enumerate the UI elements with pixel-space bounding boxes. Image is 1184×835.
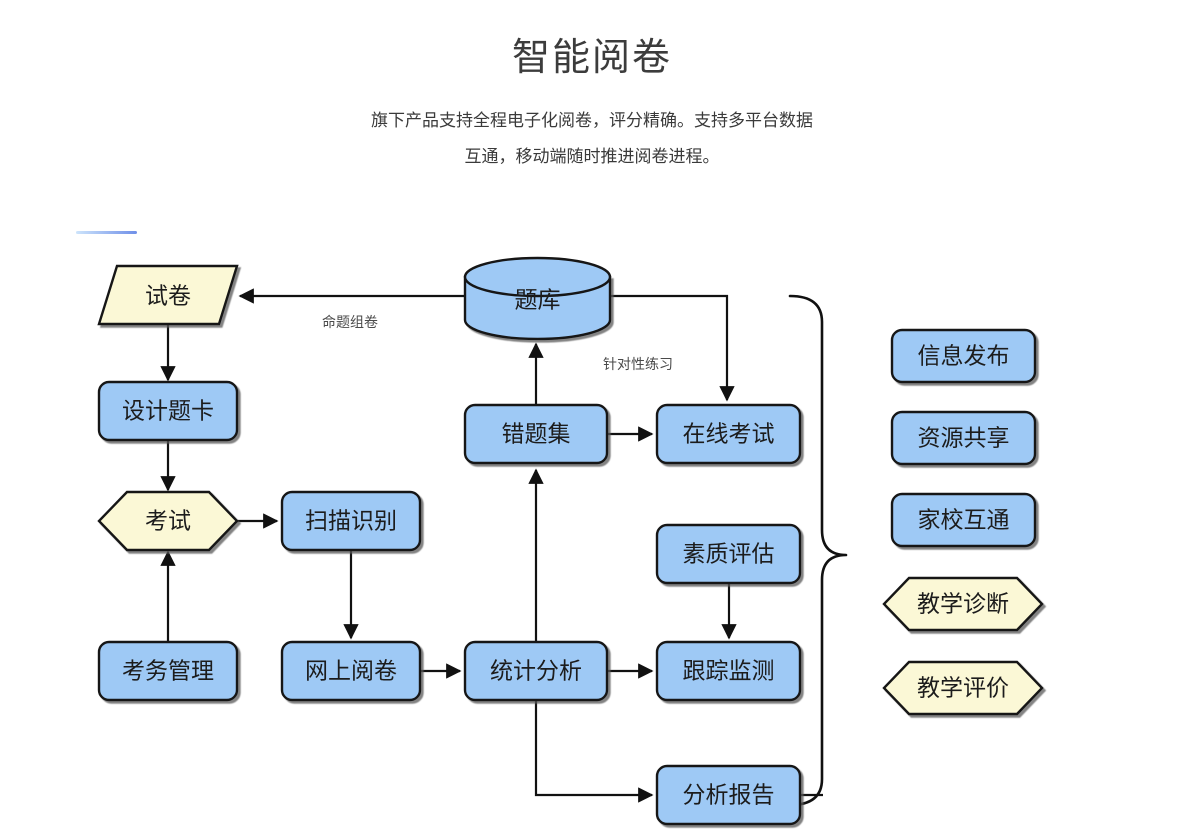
node-label-jiaxiaohutong: 家校互通 xyxy=(918,508,1010,533)
node-kaowuguanli[interactable]: 考务管理 xyxy=(99,642,237,700)
node-wangshangyuejuan[interactable]: 网上阅卷 xyxy=(282,642,420,700)
flowchart-canvas: 命题组卷 针对性练习 试卷 设计题卡 考试 考务管理 扫描识别 网上阅卷 题库 xyxy=(0,230,1184,835)
node-genzongjiance[interactable]: 跟踪监测 xyxy=(657,642,800,700)
page-title: 智能阅卷 xyxy=(0,0,1184,81)
node-ziyuangongxiang[interactable]: 资源共享 xyxy=(892,412,1035,464)
node-label-tiku: 题库 xyxy=(515,288,561,313)
node-label-kaoshi: 考试 xyxy=(145,509,191,534)
node-xinxifabu[interactable]: 信息发布 xyxy=(892,330,1035,382)
node-label-shijuan: 试卷 xyxy=(145,284,191,309)
node-label-suzhipinggu: 素质评估 xyxy=(683,542,775,567)
node-jiaxiaohutong[interactable]: 家校互通 xyxy=(892,494,1035,546)
page-subtitle: 旗下产品支持全程电子化阅卷，评分精确。支持多平台数据 互通，移动端随时推进阅卷进… xyxy=(282,103,902,174)
subtitle-line-1: 旗下产品支持全程电子化阅卷，评分精确。支持多平台数据 xyxy=(282,103,902,139)
node-cuotiji[interactable]: 错题集 xyxy=(465,405,607,463)
node-label-zaixiankaoshi: 在线考试 xyxy=(683,422,775,447)
node-tongjifenxi[interactable]: 统计分析 xyxy=(465,642,607,700)
node-fenxibaogao[interactable]: 分析报告 xyxy=(657,766,800,824)
node-label-saomiaoshibie: 扫描识别 xyxy=(305,509,397,534)
node-shejitika[interactable]: 设计题卡 xyxy=(99,382,237,440)
node-label-genzongjiance: 跟踪监测 xyxy=(683,659,775,684)
node-label-kaowuguanli: 考务管理 xyxy=(122,659,214,684)
node-label-shejitika: 设计题卡 xyxy=(122,399,214,424)
node-label-jiaoxuezhenduan: 教学诊断 xyxy=(917,592,1009,617)
node-label-tongjifenxi: 统计分析 xyxy=(490,659,582,684)
node-label-jiaoxuepingjia: 教学评价 xyxy=(917,676,1009,701)
node-zaixiankaoshi[interactable]: 在线考试 xyxy=(657,405,800,463)
node-jiaoxuezhenduan[interactable]: 教学诊断 xyxy=(884,578,1042,630)
edge-tongjifenxi-to-fenxibaogao xyxy=(536,700,652,795)
node-label-wangshangyuejuan: 网上阅卷 xyxy=(305,659,397,684)
node-label-fenxibaogao: 分析报告 xyxy=(683,783,775,808)
node-label-xinxifabu: 信息发布 xyxy=(918,344,1010,369)
node-kaoshi[interactable]: 考试 xyxy=(99,492,237,550)
node-suzhipinggu[interactable]: 素质评估 xyxy=(657,525,800,583)
node-label-ziyuangongxiang: 资源共享 xyxy=(918,426,1010,451)
edge-tiku-to-zaixiankaoshi xyxy=(610,296,727,400)
node-shijuan[interactable]: 试卷 xyxy=(99,266,237,324)
node-jiaoxuepingjia[interactable]: 教学评价 xyxy=(884,662,1042,714)
subtitle-line-2: 互通，移动端随时推进阅卷进程。 xyxy=(282,139,902,175)
node-tiku[interactable]: 题库 xyxy=(465,258,610,339)
node-saomiaoshibie[interactable]: 扫描识别 xyxy=(282,492,420,550)
edge-label-mingtizujuan: 命题组卷 xyxy=(322,314,378,330)
node-label-cuotiji: 错题集 xyxy=(502,422,571,447)
edge-label-zhenduixinglianxi: 针对性练习 xyxy=(603,356,673,372)
